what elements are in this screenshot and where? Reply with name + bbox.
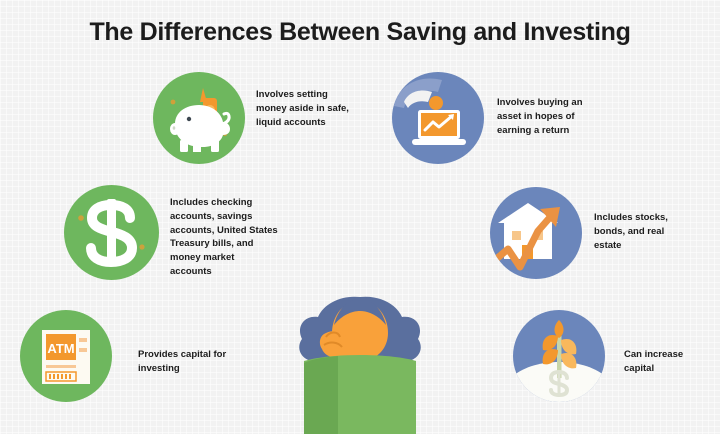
caption-investing-laptop: Involves buying an asset in hopes of ear…	[497, 96, 601, 137]
caption-investing-house: Includes stocks, bonds, and real estate	[594, 211, 692, 252]
growing-plant-dollar-icon	[513, 310, 605, 402]
svg-text:ATM: ATM	[47, 341, 74, 356]
dollar-sign-icon	[64, 185, 159, 280]
house-growth-arrow-icon	[490, 187, 582, 279]
page-title: The Differences Between Saving and Inves…	[0, 18, 720, 47]
laptop-chart-icon	[392, 72, 484, 164]
infographic-canvas: The Differences Between Saving and Inves…	[0, 0, 720, 434]
thinking-person-illustration	[282, 285, 438, 434]
caption-investing-plant: Can increase capital	[624, 348, 706, 376]
caption-saving-atm: Provides capital for investing	[138, 348, 234, 376]
caption-saving-dollar: Includes checking accounts, savings acco…	[170, 196, 278, 279]
piggy-bank-icon	[153, 72, 245, 164]
caption-saving-piggy: Involves setting money aside in safe, li…	[256, 88, 352, 129]
atm-machine-icon: ATM	[20, 310, 112, 402]
